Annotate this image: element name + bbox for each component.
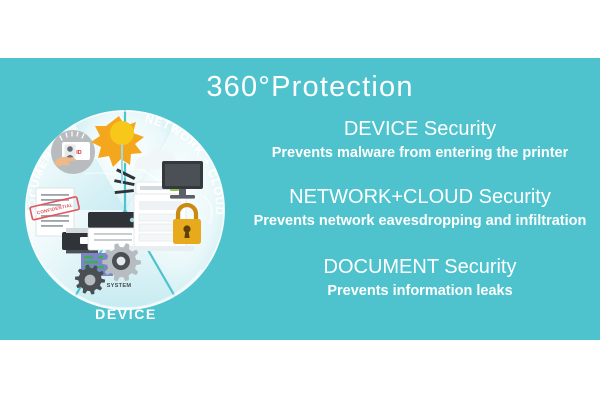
network-cloud-security-subtext: Prevents network eavesdropping and infil… [242,210,598,232]
device-security-subtext: Prevents malware from entering the print… [242,142,598,164]
device-security-block: DEVICE Security Prevents malware from en… [242,116,598,164]
system-label: SYSTEM [107,283,132,289]
segment-label-device: DEVICE [18,306,234,322]
svg-text:ID: ID [76,150,81,156]
desktop-printer-icon [88,212,138,250]
document-security-subtext: Prevents information leaks [242,280,598,302]
network-cloud-security-heading: NETWORK+CLOUD Security [242,184,598,210]
security-circle-diagram: DOCUMENT NETWORK + CLOUD ID [18,100,234,332]
infographic-canvas: 360°Protection [0,0,600,400]
id-card-icon: ID [51,130,95,174]
device-security-heading: DEVICE Security [242,116,598,142]
document-security-heading: DOCUMENT Security [242,254,598,280]
document-security-block: DOCUMENT Security Prevents information l… [242,254,598,302]
security-descriptions: DEVICE Security Prevents malware from en… [242,116,598,315]
network-cloud-security-block: NETWORK+CLOUD Security Prevents network … [242,184,598,232]
